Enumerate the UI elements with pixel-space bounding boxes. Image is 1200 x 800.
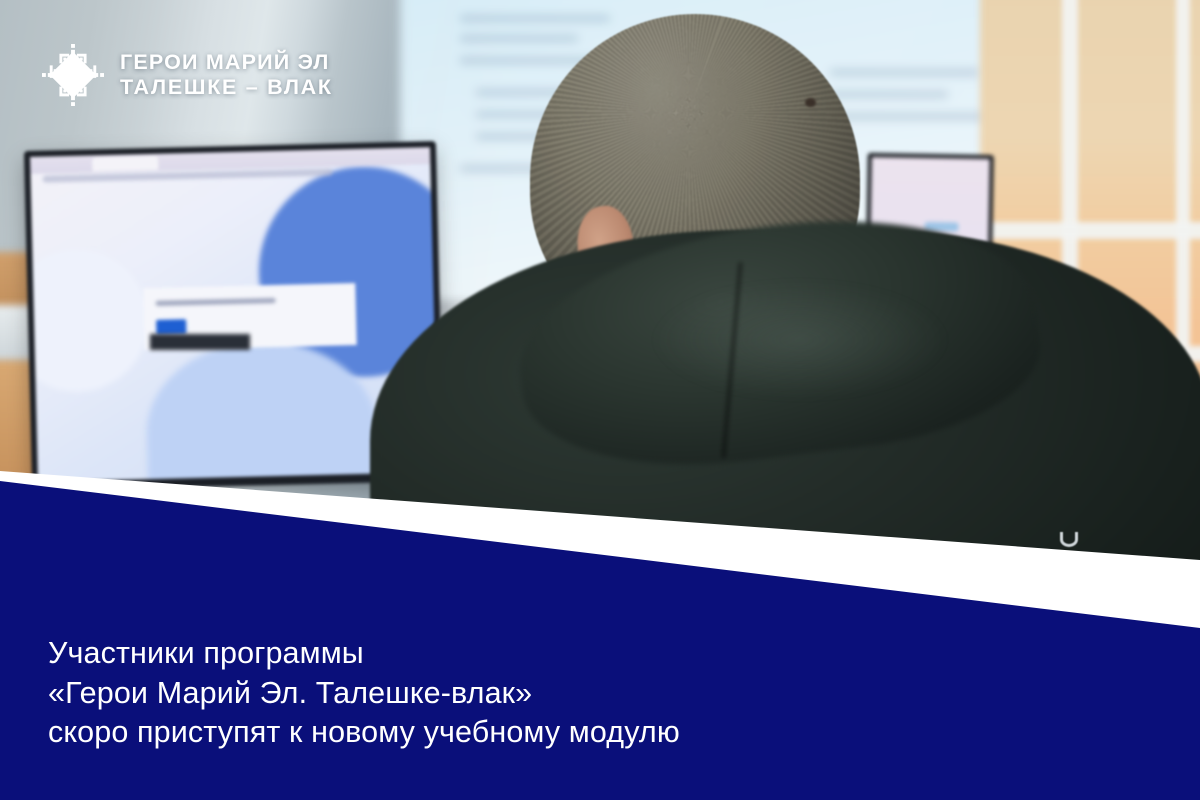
mari-ornament-diamond-icon (42, 44, 104, 106)
brand-line-2: ТАЛЕШКЕ – ВЛАК (120, 75, 333, 99)
brand-line-1: ГЕРОИ МАРИЙ ЭЛ (120, 50, 330, 74)
hoodie-brand-logo-icon (1060, 532, 1078, 547)
headline-line-3: скоро приступят к новому учебному модулю (48, 713, 680, 752)
brand-lockup: ГЕРОИ МАРИЙ ЭЛ ТАЛЕШКЕ – ВЛАК (42, 44, 333, 106)
headline: Участники программы «Герои Марий Эл. Тал… (48, 634, 680, 752)
head-mark (805, 98, 816, 107)
poster-card: ГЕРОИ МАРИЙ ЭЛ ТАЛЕШКЕ – ВЛАК Участники … (0, 0, 1200, 800)
monitor-stand (150, 334, 250, 350)
brand-name: ГЕРОИ МАРИЙ ЭЛ ТАЛЕШКЕ – ВЛАК (120, 50, 333, 101)
card-primary-button (156, 319, 186, 335)
decorative-light-circle (30, 248, 150, 393)
card-text-line (156, 298, 276, 306)
headline-line-2: «Герои Марий Эл. Талешке-влак» (48, 674, 680, 713)
headline-line-1: Участники программы (48, 634, 680, 673)
browser-tab (92, 156, 158, 172)
